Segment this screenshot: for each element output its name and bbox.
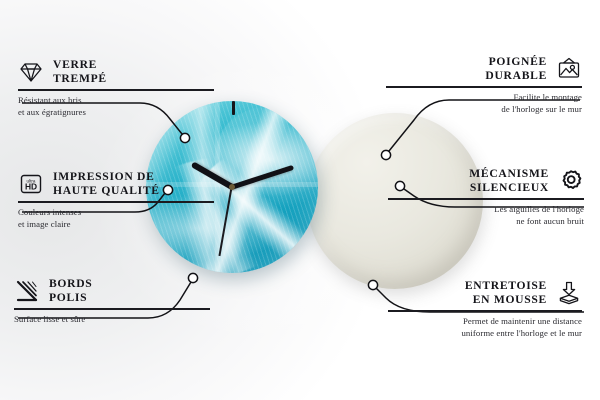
feature-divider [388,310,582,312]
feature-header: BORDS POLIS [14,277,210,304]
feature-description: Couleurs intenses et image claire [18,207,214,230]
infographic-canvas: VERRE TREMPÉ Résistant aux bris et aux é… [0,0,600,400]
feature-header: POIGNÉE DURABLE [386,55,582,82]
feature-header: ultra HD IMPRESSION DE HAUTE QUALITÉ [18,170,214,197]
feature-divider [18,201,214,203]
feature-divider [18,89,214,91]
wall-hanger-frame-icon [556,56,582,82]
feature-poignee-durable[interactable]: POIGNÉE DURABLE Facilite le montage de l… [386,55,582,115]
feature-description: Surface lisse et sûre [14,314,210,326]
feature-title: MÉCANISME SILENCIEUX [469,167,549,194]
svg-text:HD: HD [25,181,37,191]
feature-title: BORDS POLIS [49,277,92,304]
feature-header: VERRE TREMPÉ [18,58,214,85]
feature-mecanisme-silencieux[interactable]: MÉCANISME SILENCIEUX Les aiguilles de l'… [388,167,584,227]
feature-divider [386,86,582,88]
foam-spacer-arrow-icon [556,280,582,306]
feature-impression-haute-qualite[interactable]: ultra HD IMPRESSION DE HAUTE QUALITÉ Cou… [18,170,214,230]
clock-tick [146,272,147,273]
ultra-hd-badge-icon: ultra HD [18,171,44,197]
feature-description: Les aiguilles de l'horloge ne font aucun… [388,204,584,227]
gear-icon [558,168,584,194]
feature-description: Résistant aux bris et aux égratignures [18,95,214,118]
clock-tick [232,101,234,187]
feature-title: POIGNÉE DURABLE [485,55,547,82]
polished-edges-icon [14,278,40,304]
diamond-icon [18,59,44,85]
feature-description: Facilite le montage de l'horloge sur le … [386,92,582,115]
feature-title: ENTRETOISE EN MOUSSE [465,279,547,306]
feature-divider [388,198,584,200]
feature-verre-trempe[interactable]: VERRE TREMPÉ Résistant aux bris et aux é… [18,58,214,118]
feature-title: IMPRESSION DE HAUTE QUALITÉ [53,170,160,197]
feature-title: VERRE TREMPÉ [53,58,107,85]
feature-bords-polis[interactable]: BORDS POLIS Surface lisse et sûre [14,277,210,326]
feature-entretoise-en-mousse[interactable]: ENTRETOISE EN MOUSSE Permet de maintenir… [388,279,582,339]
feature-header: MÉCANISME SILENCIEUX [388,167,584,194]
hand-center-cap [229,184,235,190]
feature-description: Permet de maintenir une distance uniform… [388,316,582,339]
feature-divider [14,308,210,310]
feature-header: ENTRETOISE EN MOUSSE [388,279,582,306]
